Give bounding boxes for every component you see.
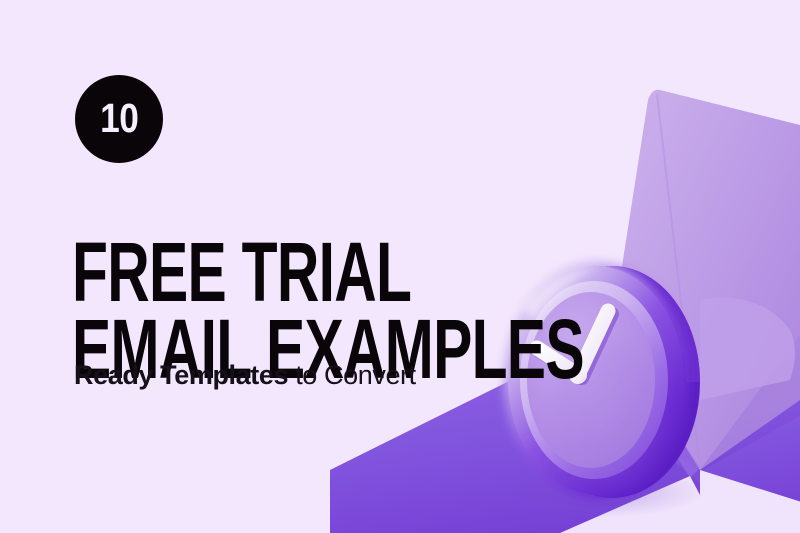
number-badge-value: 10 [100, 98, 138, 139]
page-subtitle: Ready Templates to Convert [74, 359, 416, 391]
page-subtitle-emphasis: Ready Templates [74, 360, 288, 390]
page-title-line-1: FREE TRIAL [72, 236, 464, 310]
poster-content: 10 FREE TRIAL EMAIL EXAMPLES Ready Templ… [0, 0, 800, 533]
poster-canvas: 10 FREE TRIAL EMAIL EXAMPLES Ready Templ… [0, 0, 800, 533]
number-badge: 10 [75, 75, 163, 163]
page-subtitle-rest: to Convert [288, 360, 416, 390]
